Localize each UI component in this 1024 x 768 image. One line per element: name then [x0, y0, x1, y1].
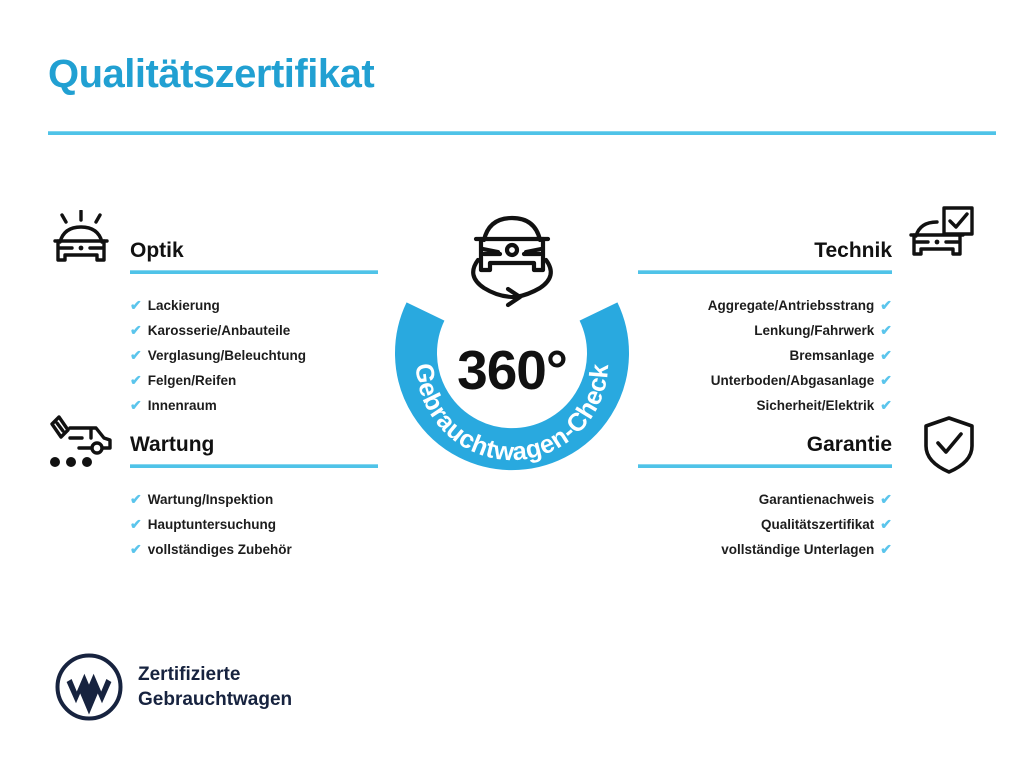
list-item-label: Felgen/Reifen	[148, 369, 237, 393]
section-head-garantie: Garantie	[638, 432, 892, 474]
list-item-label: Hauptuntersuchung	[148, 513, 276, 537]
section-divider-wartung	[130, 464, 378, 468]
section-head-wartung: Wartung	[130, 432, 378, 474]
brand-text: Zertifizierte Gebrauchtwagen	[138, 662, 292, 712]
check-icon: ✔	[130, 318, 142, 342]
brand-line-2: Gebrauchtwagen	[138, 687, 292, 712]
list-item-label: Verglasung/Beleuchtung	[148, 344, 306, 368]
brand-line-1: Zertifizierte	[138, 662, 292, 687]
check-icon: ✔	[880, 293, 892, 317]
certificate-page: Qualitätszertifikat	[0, 0, 1024, 768]
list-item: vollständige Unterlagen✔	[638, 537, 892, 562]
section-garantie: Garantie Garantienachweis✔ Qualitätszert…	[638, 432, 892, 562]
checklist-garantie: Garantienachweis✔ Qualitätszertifikat✔ v…	[638, 487, 892, 562]
title-divider	[48, 131, 996, 135]
check-icon: ✔	[130, 293, 142, 317]
badge-number: 360°	[378, 340, 646, 400]
list-item-label: Lenkung/Fahrwerk	[754, 319, 874, 343]
list-item: ✔Wartung/Inspektion	[130, 487, 378, 512]
360-check-badge: Gebrauchtwagen-Check 3	[378, 192, 646, 492]
section-technik: Technik Aggregate/Antriebsstrang✔ Lenkun…	[638, 238, 892, 418]
section-head-optik: Optik	[130, 238, 378, 280]
list-item: ✔Innenraum	[130, 393, 378, 418]
list-item: Unterboden/Abgasanlage✔	[638, 368, 892, 393]
list-item-label: Lackierung	[148, 294, 220, 318]
checklist-wartung: ✔Wartung/Inspektion ✔Hauptuntersuchung ✔…	[130, 487, 378, 562]
check-icon: ✔	[880, 368, 892, 392]
check-icon: ✔	[130, 368, 142, 392]
list-item: ✔Hauptuntersuchung	[130, 512, 378, 537]
check-icon: ✔	[880, 393, 892, 417]
list-item: Aggregate/Antriebsstrang✔	[638, 293, 892, 318]
check-icon: ✔	[130, 512, 142, 536]
list-item: Sicherheit/Elektrik✔	[638, 393, 892, 418]
list-item-label: Unterboden/Abgasanlage	[711, 369, 875, 393]
section-title-wartung: Wartung	[130, 432, 378, 458]
car-shine-icon	[46, 210, 116, 272]
section-divider-technik	[638, 270, 892, 274]
shield-check-icon	[918, 414, 988, 476]
volkswagen-logo	[54, 652, 124, 722]
checklist-optik: ✔Lackierung ✔Karosserie/Anbauteile ✔Verg…	[130, 293, 378, 418]
list-item-label: Sicherheit/Elektrik	[756, 394, 874, 418]
list-item: Garantienachweis✔	[638, 487, 892, 512]
check-icon: ✔	[130, 393, 142, 417]
check-icon: ✔	[130, 537, 142, 561]
check-icon: ✔	[130, 343, 142, 367]
section-divider-garantie	[638, 464, 892, 468]
check-icon: ✔	[880, 537, 892, 561]
car-checkbox-icon	[906, 206, 976, 268]
check-icon: ✔	[880, 487, 892, 511]
list-item-label: Qualitätszertifikat	[761, 513, 874, 537]
brand-lockup: Zertifizierte Gebrauchtwagen	[54, 652, 292, 722]
list-item-label: Innenraum	[148, 394, 217, 418]
check-icon: ✔	[880, 318, 892, 342]
list-item: ✔vollständiges Zubehör	[130, 537, 378, 562]
car-rotation-icon	[473, 218, 551, 305]
list-item: ✔Karosserie/Anbauteile	[130, 318, 378, 343]
list-item-label: Aggregate/Antriebsstrang	[708, 294, 875, 318]
section-divider-optik	[130, 270, 378, 274]
list-item-label: vollständige Unterlagen	[721, 538, 874, 562]
section-head-technik: Technik	[638, 238, 892, 280]
list-item: Qualitätszertifikat✔	[638, 512, 892, 537]
list-item: Lenkung/Fahrwerk✔	[638, 318, 892, 343]
check-icon: ✔	[130, 487, 142, 511]
wrench-car-icon	[46, 414, 116, 476]
list-item-label: Wartung/Inspektion	[148, 488, 274, 512]
section-title-garantie: Garantie	[638, 432, 892, 458]
section-title-optik: Optik	[130, 238, 378, 264]
page-title: Qualitätszertifikat	[48, 52, 374, 96]
checklist-technik: Aggregate/Antriebsstrang✔ Lenkung/Fahrwe…	[638, 293, 892, 418]
list-item-label: Karosserie/Anbauteile	[148, 319, 291, 343]
list-item: ✔Lackierung	[130, 293, 378, 318]
section-optik: Optik ✔Lackierung ✔Karosserie/Anbauteile…	[130, 238, 378, 418]
check-icon: ✔	[880, 343, 892, 367]
list-item-label: vollständiges Zubehör	[148, 538, 292, 562]
check-icon: ✔	[880, 512, 892, 536]
list-item: Bremsanlage✔	[638, 343, 892, 368]
list-item: ✔Verglasung/Beleuchtung	[130, 343, 378, 368]
list-item: ✔Felgen/Reifen	[130, 368, 378, 393]
list-item-label: Garantienachweis	[759, 488, 875, 512]
section-wartung: Wartung ✔Wartung/Inspektion ✔Hauptunters…	[130, 432, 378, 562]
section-title-technik: Technik	[638, 238, 892, 264]
list-item-label: Bremsanlage	[789, 344, 874, 368]
